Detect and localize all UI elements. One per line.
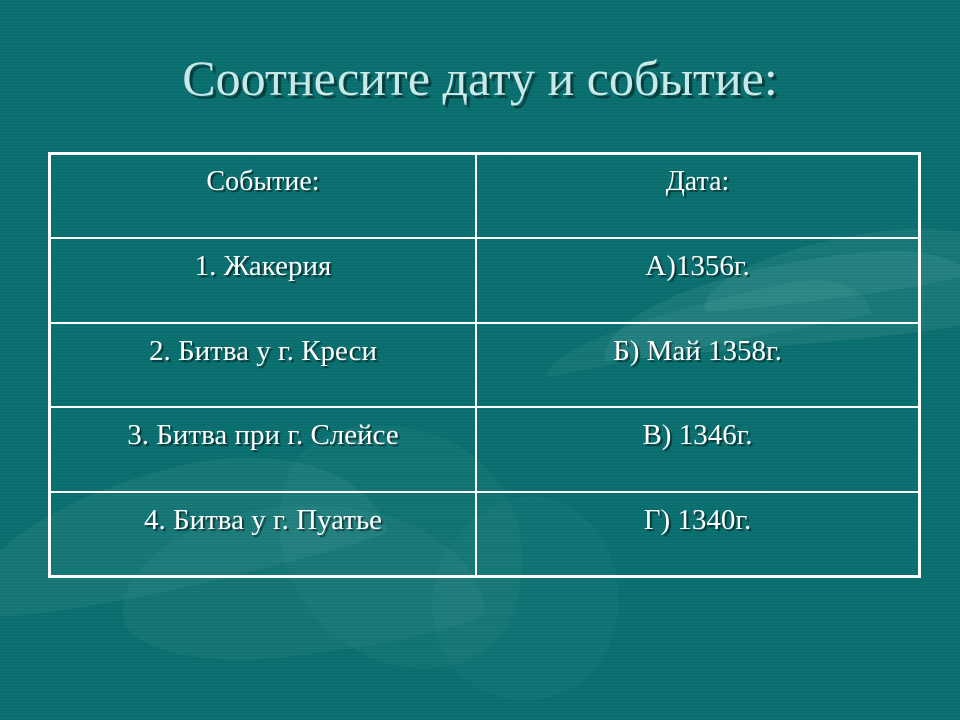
slide-canvas: Соотнесите дату и событие: Событие: Дата… [0, 0, 960, 720]
table-row: 2. Битва у г. Креси Б) Май 1358г. [51, 324, 918, 408]
column-header-event: Событие: [51, 155, 477, 237]
date-cell-3: В) 1346г. [477, 408, 918, 490]
date-cell-4: Г) 1340г. [477, 493, 918, 575]
event-cell-3: 3. Битва при г. Слейсе [51, 408, 477, 490]
table-row: 1. Жакерия А)1356г. [51, 239, 918, 323]
slide-title: Соотнесите дату и событие: [0, 52, 960, 105]
date-cell-1: А)1356г. [477, 239, 918, 321]
table-row: 3. Битва при г. Слейсе В) 1346г. [51, 408, 918, 492]
date-cell-2: Б) Май 1358г. [477, 324, 918, 406]
event-cell-4: 4. Битва у г. Пуатье [51, 493, 477, 575]
matching-table: Событие: Дата: 1. Жакерия А)1356г. 2. Би… [48, 152, 921, 578]
table-row: 4. Битва у г. Пуатье Г) 1340г. [51, 493, 918, 575]
column-header-date: Дата: [477, 155, 918, 237]
table-header-row: Событие: Дата: [51, 155, 918, 239]
event-cell-2: 2. Битва у г. Креси [51, 324, 477, 406]
event-cell-1: 1. Жакерия [51, 239, 477, 321]
